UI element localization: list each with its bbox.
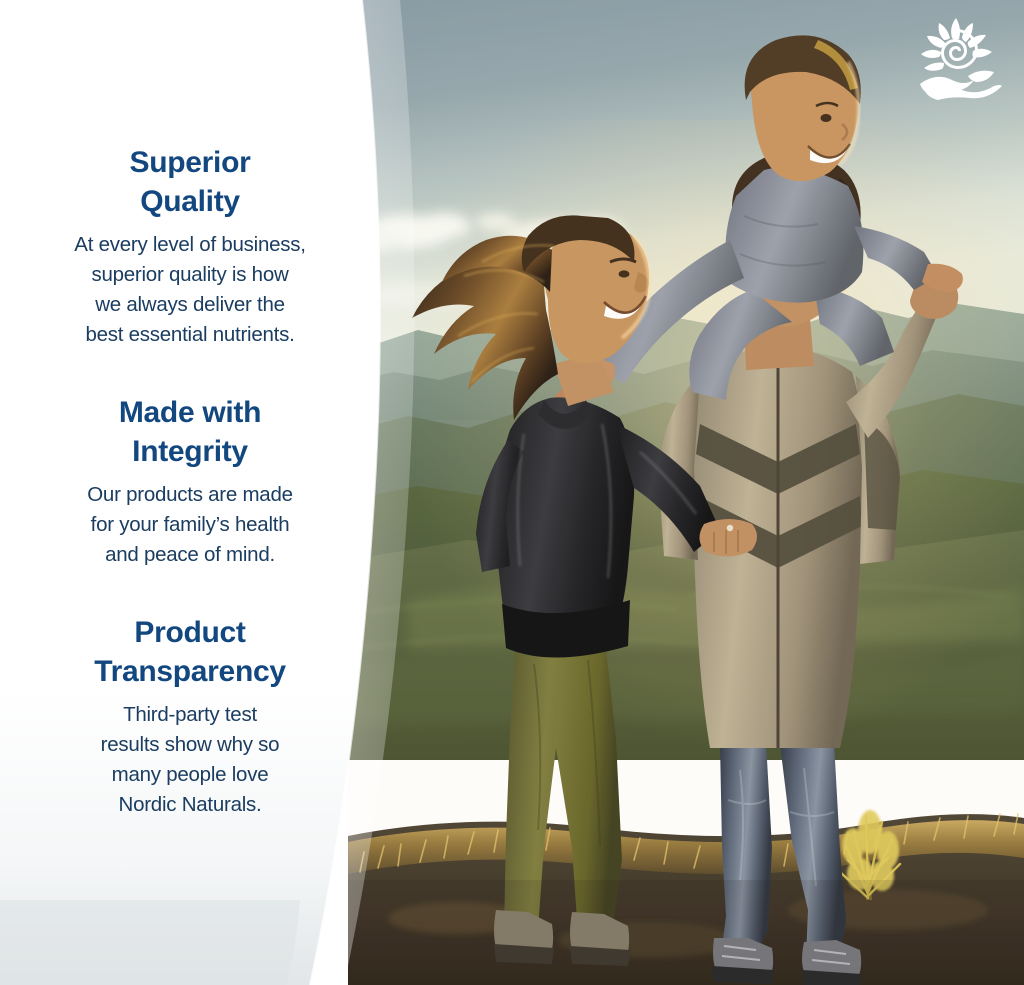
- value-block-superior-quality: Superior Quality At every level of busin…: [10, 143, 370, 351]
- body-line: many people love: [10, 760, 370, 790]
- sun-wave-logo-icon: [916, 14, 1006, 100]
- value-heading: Superior Quality: [10, 143, 370, 221]
- body-line: for your family’s health: [10, 510, 370, 540]
- body-line: Our products are made: [10, 480, 370, 510]
- body-line: Nordic Naturals.: [10, 790, 370, 820]
- heading-line: Product: [10, 613, 370, 652]
- value-heading: Product Transparency: [10, 613, 370, 691]
- heading-line: Transparency: [10, 652, 370, 691]
- heading-line: Integrity: [10, 432, 370, 471]
- value-heading: Made with Integrity: [10, 393, 370, 471]
- body-line: results show why so: [10, 730, 370, 760]
- value-body: Our products are made for your family’s …: [10, 480, 370, 570]
- value-body: At every level of business, superior qua…: [10, 230, 370, 351]
- copy-column: Superior Quality At every level of busin…: [0, 0, 400, 985]
- body-line: and peace of mind.: [10, 540, 370, 570]
- body-line: we always deliver the: [10, 290, 370, 320]
- body-line: Third-party test: [10, 700, 370, 730]
- heading-line: Quality: [10, 182, 370, 221]
- value-block-product-transparency: Product Transparency Third-party test re…: [10, 613, 370, 821]
- promo-graphic: Superior Quality At every level of busin…: [0, 0, 1024, 985]
- family-mountain-photo: [348, 0, 1024, 985]
- heading-line: Made with: [10, 393, 370, 432]
- heading-line: Superior: [10, 143, 370, 182]
- body-line: superior quality is how: [10, 260, 370, 290]
- value-body: Third-party test results show why so man…: [10, 700, 370, 821]
- value-block-made-with-integrity: Made with Integrity Our products are mad…: [10, 393, 370, 570]
- body-line: best essential nutrients.: [10, 320, 370, 350]
- body-line: At every level of business,: [10, 230, 370, 260]
